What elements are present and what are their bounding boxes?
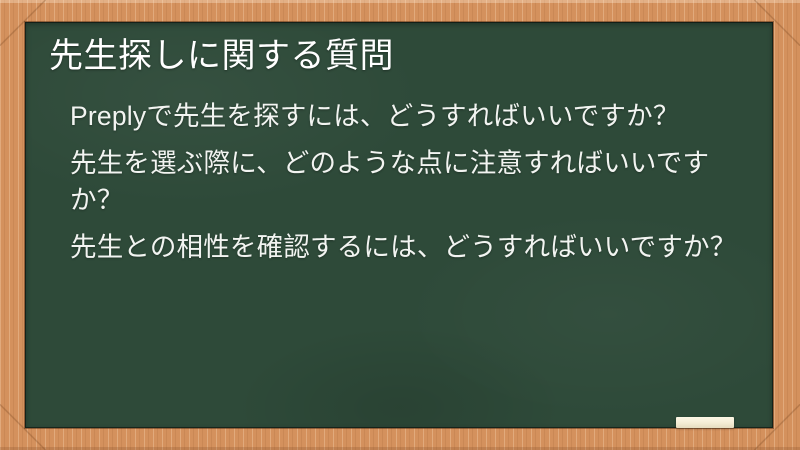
list-item: Preplyで先生を探すには、どうすればいいですか？ bbox=[70, 98, 753, 135]
list-item: 先生との相性を確認するには、どうすればいいですか？ bbox=[70, 229, 753, 266]
chalkboard-content: 先生探しに関する質問 Preplyで先生を探すには、どうすればいいですか？ 先生… bbox=[25, 22, 773, 266]
slide-canvas: 先生探しに関する質問 Preplyで先生を探すには、どうすればいいですか？ 先生… bbox=[0, 0, 800, 450]
page-title: 先生探しに関する質問 bbox=[37, 36, 753, 76]
chalk-stick-icon bbox=[676, 417, 734, 428]
chalkboard: 先生探しに関する質問 Preplyで先生を探すには、どうすればいいですか？ 先生… bbox=[25, 22, 773, 428]
list-item: 先生を選ぶ際に、どのような点に注意すればいいですか？ bbox=[70, 145, 753, 219]
question-list: Preplyで先生を探すには、どうすればいいですか？ 先生を選ぶ際に、どのような… bbox=[37, 98, 753, 266]
